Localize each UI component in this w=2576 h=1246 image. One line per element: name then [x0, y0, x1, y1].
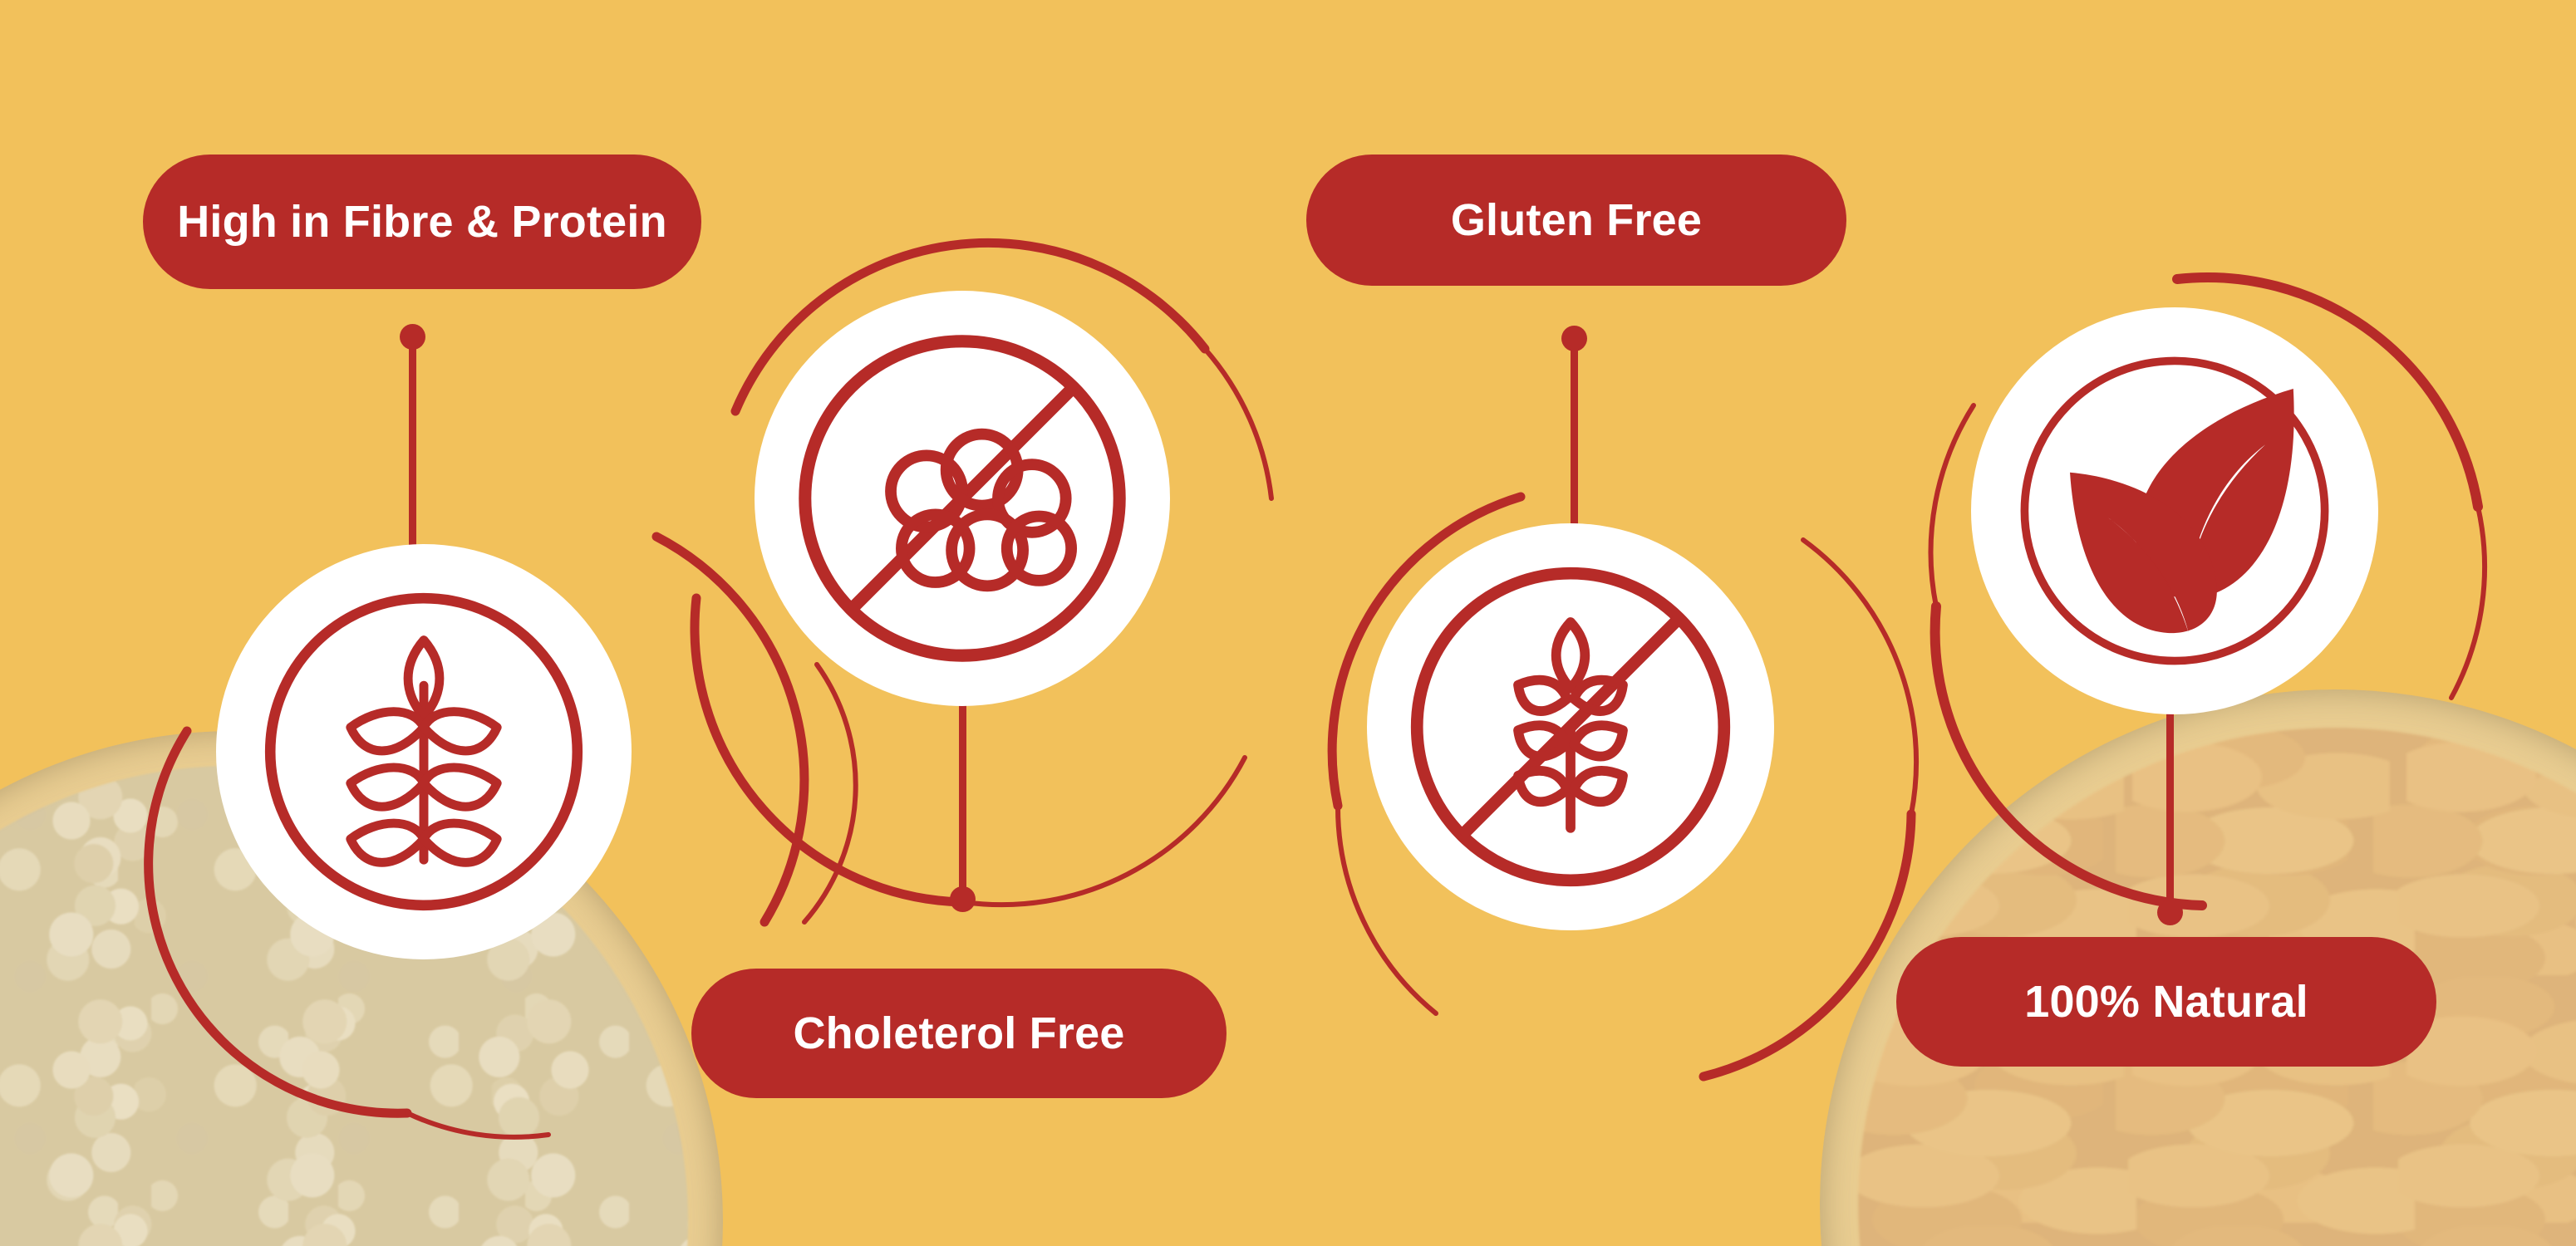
badge-choleterol-free[interactable] — [755, 291, 1170, 706]
badge-gluten-free[interactable] — [1367, 523, 1774, 930]
feature-label-100-natural[interactable]: 100% Natural — [1896, 937, 2436, 1067]
two-leaves-icon — [2000, 336, 2349, 685]
feature-label-choleterol-free[interactable]: Choleterol Free — [691, 969, 1227, 1098]
connector-dot — [2157, 900, 2183, 925]
feature-label-text: Choleterol Free — [793, 1008, 1124, 1059]
feature-label-text: High in Fibre & Protein — [177, 196, 667, 248]
no-gluten-wheat-icon — [1396, 552, 1745, 901]
feature-label-text: Gluten Free — [1451, 194, 1702, 246]
connector-stem — [409, 331, 416, 580]
feature-label-high-fibre-protein[interactable]: High in Fibre & Protein — [143, 155, 701, 289]
no-cholesterol-icon — [784, 320, 1141, 677]
feature-label-gluten-free[interactable]: Gluten Free — [1306, 155, 1846, 286]
wheat-stalk-icon — [249, 577, 598, 926]
badge-high-fibre-protein[interactable] — [216, 544, 632, 959]
connector-stem — [959, 694, 966, 905]
connector-stem — [2166, 710, 2174, 918]
connector-dot — [950, 886, 976, 912]
infographic-canvas: High in Fibre & Protein — [0, 0, 2576, 1246]
connector-dot — [400, 324, 425, 350]
feature-label-text: 100% Natural — [2024, 976, 2308, 1028]
badge-100-natural[interactable] — [1971, 307, 2378, 714]
connector-dot — [1561, 326, 1587, 351]
